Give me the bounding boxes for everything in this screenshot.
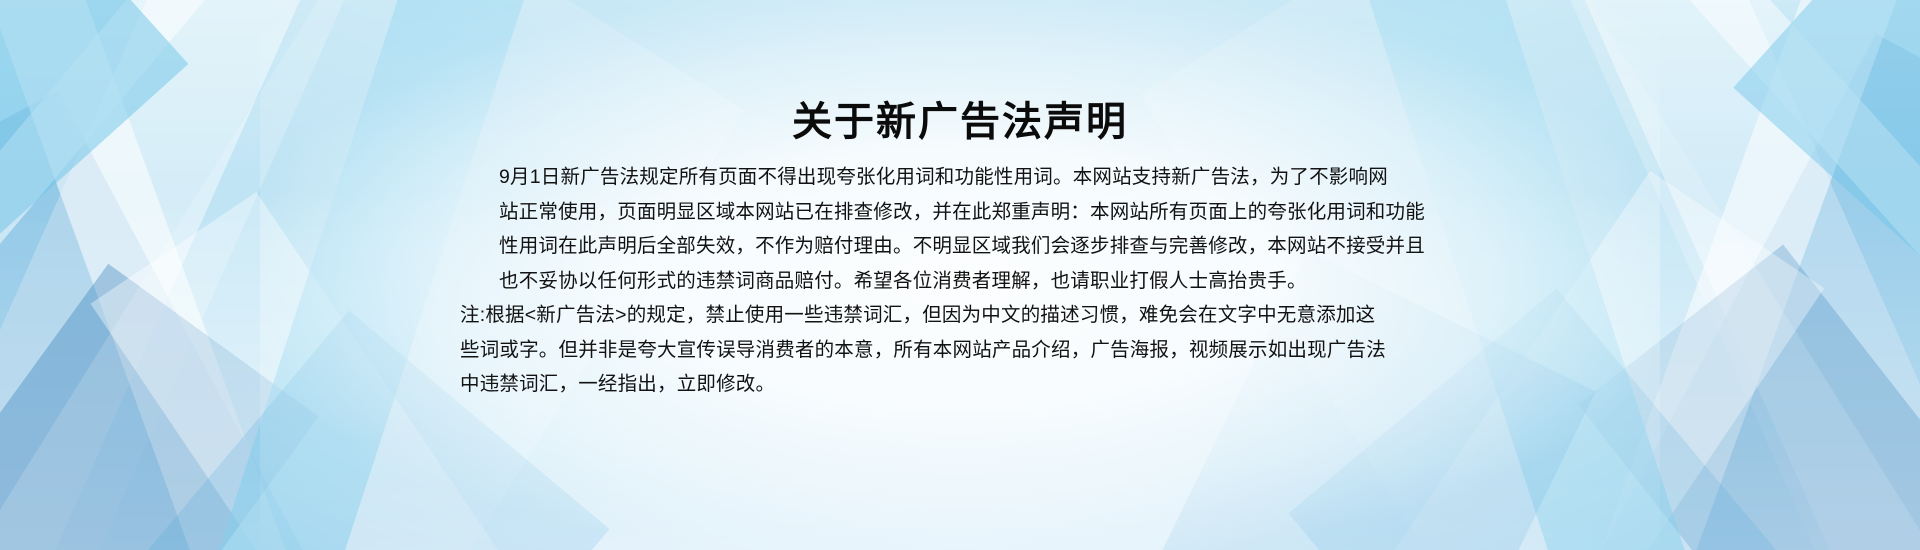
statement-body: 9月1日新广告法规定所有页面不得出现夸张化用词和功能性用词。本网站支持新广告法，…: [460, 160, 1460, 402]
paragraph-line: 性用词在此声明后全部失效，不作为赔付理由。不明显区域我们会逐步排查与完善修改，本…: [460, 229, 1460, 264]
paragraph-line: 也不妥协以任何形式的违禁词商品赔付。希望各位消费者理解，也请职业打假人士高抬贵手…: [460, 264, 1460, 299]
paragraph-line: 站正常使用，页面明显区域本网站已在排查修改，并在此郑重声明：本网站所有页面上的夸…: [460, 195, 1460, 230]
paragraph-line: 注:根据<新广告法>的规定，禁止使用一些违禁词汇，但因为中文的描述习惯，难免会在…: [460, 298, 1460, 333]
paragraph-line: 中违禁词汇，一经指出，立即修改。: [460, 367, 1460, 402]
paragraph-statement: 9月1日新广告法规定所有页面不得出现夸张化用词和功能性用词。本网站支持新广告法，…: [460, 160, 1460, 298]
paragraph-line: 些词或字。但并非是夸大宣传误导消费者的本意，所有本网站产品介绍，广告海报，视频展…: [460, 333, 1460, 368]
paragraph-note: 注:根据<新广告法>的规定，禁止使用一些违禁词汇，但因为中文的描述习惯，难免会在…: [460, 298, 1460, 402]
paragraph-line: 9月1日新广告法规定所有页面不得出现夸张化用词和功能性用词。本网站支持新广告法，…: [460, 160, 1460, 195]
advertising-law-statement-banner: 关于新广告法声明 9月1日新广告法规定所有页面不得出现夸张化用词和功能性用词。本…: [0, 0, 1920, 550]
statement-content: 关于新广告法声明 9月1日新广告法规定所有页面不得出现夸张化用词和功能性用词。本…: [460, 0, 1460, 402]
page-title: 关于新广告法声明: [460, 98, 1460, 146]
